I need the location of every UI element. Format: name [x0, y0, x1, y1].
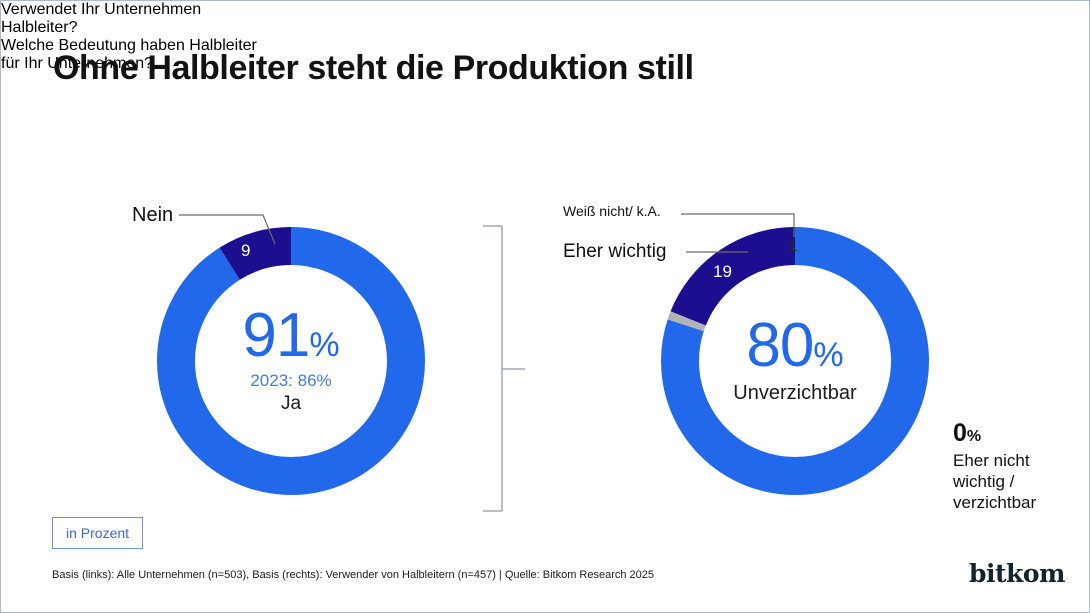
page-title: Ohne Halbleiter steht die Produktion sti… [53, 49, 694, 88]
panel-heading-left-line2: Halbleiter? [1, 19, 441, 37]
segment-value-eher-wichtig: 19 [713, 262, 732, 282]
donut-left-svg [149, 219, 433, 503]
leader-line-nein [179, 206, 289, 251]
source-footnote: Basis (links): Alle Unternehmen (n=503),… [52, 569, 654, 581]
infographic-canvas: Ohne Halbleiter steht die Produktion sti… [0, 0, 1090, 613]
connector-bracket [483, 221, 543, 521]
zero-value-number: 0 [953, 419, 967, 448]
callout-label-eher-wichtig: Eher wichtig [563, 241, 667, 263]
zero-value-description: Eher nicht wichtig / verzichtbar [953, 450, 1073, 513]
donut-left-segment-ja [176, 246, 406, 476]
leader-line-eher-wichtig [686, 245, 756, 265]
zero-value-line: 0 % [953, 419, 1073, 448]
unit-badge: in Prozent [52, 517, 143, 549]
zero-value-description-line2: wichtig / [953, 471, 1073, 492]
donut-chart-left: 91 % 2023: 86% Ja [149, 219, 433, 503]
zero-value-description-line3: verzichtbar [953, 492, 1073, 513]
bitkom-logo: bitkom [969, 559, 1065, 588]
zero-value-symbol: % [967, 428, 981, 446]
zero-value-description-line1: Eher nicht [953, 450, 1073, 471]
panel-heading-left-line1: Verwendet Ihr Unternehmen [1, 1, 441, 19]
leader-line-weiss-nicht [681, 207, 811, 247]
zero-value-note: 0 % Eher nicht wichtig / verzichtbar [953, 419, 1073, 513]
callout-label-weiss-nicht: Weiß nicht/ k.A. [563, 203, 661, 219]
panel-heading-left: Verwendet Ihr Unternehmen Halbleiter? [1, 1, 441, 37]
callout-label-nein: Nein [132, 204, 173, 227]
